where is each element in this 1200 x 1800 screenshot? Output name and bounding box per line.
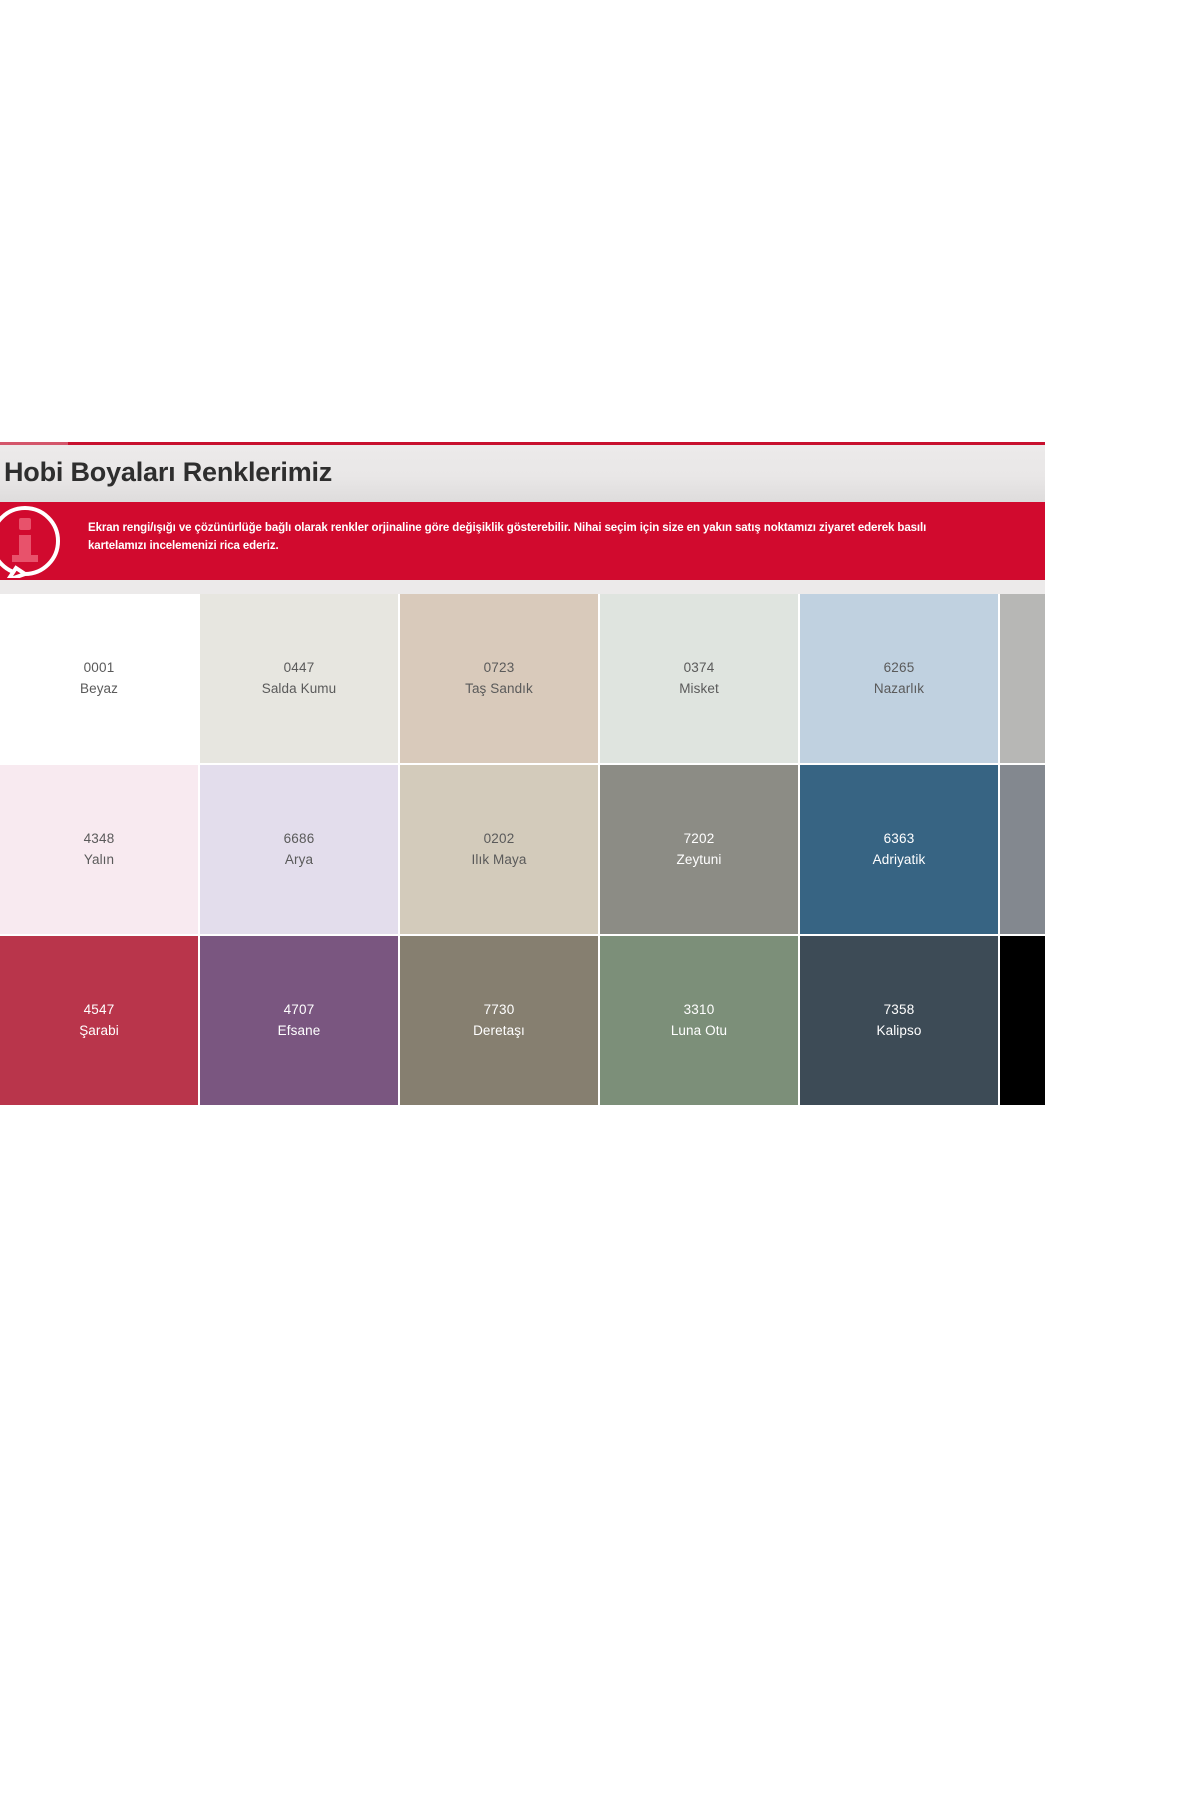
swatch-name: Deretaşı [473, 1021, 525, 1042]
title-bar: Hobi Boyaları Renklerimiz [0, 442, 1045, 502]
swatch-code: 6265 [884, 658, 915, 679]
swatch-name: Ilık Maya [472, 850, 527, 871]
info-banner-line-1: Ekran rengi/ışığı ve çözünürlüğe bağlı o… [88, 520, 1037, 538]
swatch-name: Nazarlık [874, 679, 924, 700]
info-banner: Ekran rengi/ışığı ve çözünürlüğe bağlı o… [0, 502, 1045, 580]
info-banner-text: Ekran rengi/ışığı ve çözünürlüğe bağlı o… [88, 520, 1037, 556]
info-banner-line-2: kartelamızı incelemenizi rica ederiz. [88, 538, 1037, 556]
color-swatch-grid: 0001Beyaz0447Salda Kumu0723Taş Sandık037… [0, 594, 1045, 1107]
swatch-code: 4707 [284, 1000, 315, 1021]
color-swatch[interactable]: 0020Siyah [1000, 936, 1045, 1107]
color-swatch[interactable]: 4547Şarabi [0, 936, 200, 1107]
color-swatch[interactable]: 7358Kalipso [800, 936, 1000, 1107]
swatch-name: Adriyatik [873, 850, 926, 871]
swatch-name: Salda Kumu [262, 679, 337, 700]
swatch-name: Misket [679, 679, 719, 700]
color-chart-card: Hobi Boyaları Renklerimiz Ekran rengi/ış… [0, 442, 1045, 1132]
color-swatch[interactable]: 4707Efsane [200, 936, 400, 1107]
page-title: Hobi Boyaları Renklerimiz [4, 457, 332, 488]
color-swatch[interactable]: 0542Rozet Gümüşü [1000, 594, 1045, 765]
swatch-code: 0001 [84, 658, 115, 679]
swatch-code: 0202 [484, 829, 515, 850]
swatch-code: 7730 [484, 1000, 515, 1021]
color-swatch[interactable]: 0202Ilık Maya [400, 765, 600, 936]
swatch-code: 3310 [684, 1000, 715, 1021]
color-swatch[interactable]: 0723Taş Sandık [400, 594, 600, 765]
swatch-name: Luna Otu [671, 1021, 727, 1042]
swatch-name: Taş Sandık [465, 679, 533, 700]
color-swatch[interactable]: 9064Demirdağı [1000, 765, 1045, 936]
color-swatch[interactable]: 0001Beyaz [0, 594, 200, 765]
page-root: Hobi Boyaları Renklerimiz Ekran rengi/ış… [0, 0, 1200, 1800]
swatch-name: Efsane [278, 1021, 321, 1042]
color-swatch[interactable]: 3310Luna Otu [600, 936, 800, 1107]
swatch-name: Şarabi [79, 1021, 119, 1042]
swatch-code: 7202 [684, 829, 715, 850]
title-accent-strip [0, 442, 68, 445]
color-swatch[interactable]: 7202Zeytuni [600, 765, 800, 936]
swatch-name: Yalın [84, 850, 114, 871]
color-swatch[interactable]: 0374Misket [600, 594, 800, 765]
info-circle-icon [0, 504, 72, 578]
color-swatch[interactable]: 0447Salda Kumu [200, 594, 400, 765]
color-swatch[interactable]: 7730Deretaşı [400, 936, 600, 1107]
swatch-code: 0723 [484, 658, 515, 679]
swatch-name: Arya [285, 850, 313, 871]
swatch-name: Kalipso [877, 1021, 922, 1042]
swatch-name: Beyaz [80, 679, 118, 700]
color-swatch[interactable]: 6686Arya [200, 765, 400, 936]
color-swatch[interactable]: 4348Yalın [0, 765, 200, 936]
swatch-code: 6363 [884, 829, 915, 850]
swatch-code: 0447 [284, 658, 315, 679]
color-swatch[interactable]: 6265Nazarlık [800, 594, 1000, 765]
swatch-name: Zeytuni [677, 850, 722, 871]
swatch-code: 7358 [884, 1000, 915, 1021]
swatch-code: 4547 [84, 1000, 115, 1021]
banner-grid-gap [0, 580, 1045, 594]
swatch-code: 4348 [84, 829, 115, 850]
swatch-code: 6686 [284, 829, 315, 850]
swatch-code: 0374 [684, 658, 715, 679]
color-swatch[interactable]: 6363Adriyatik [800, 765, 1000, 936]
